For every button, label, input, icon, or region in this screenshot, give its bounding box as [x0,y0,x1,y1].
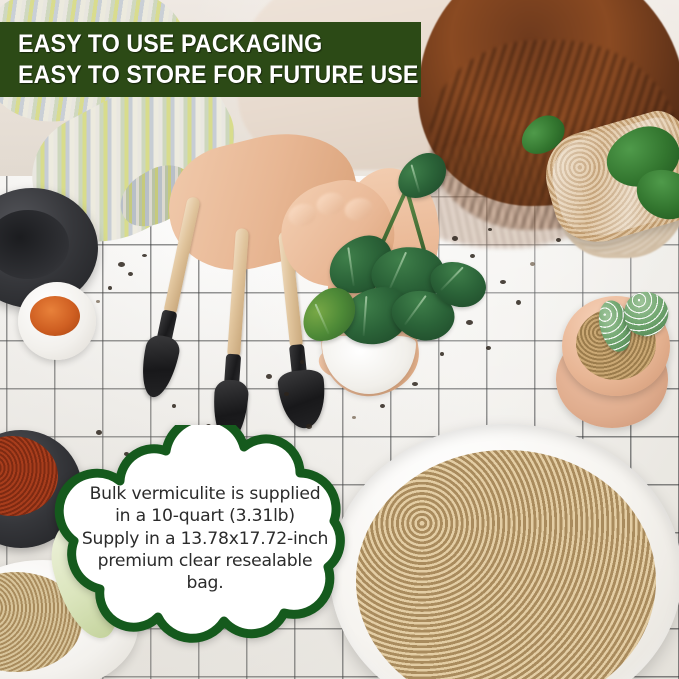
soil-crumb [172,404,176,408]
soil-crumb [352,416,356,419]
soil-crumb [452,236,458,241]
soil-crumb [440,352,444,356]
callout-line-1: Bulk vermiculite is supplied [72,483,338,505]
banner-line-2: EASY TO STORE FOR FUTURE USE [18,60,393,91]
soil-crumb [556,238,561,242]
soil-crumb [516,300,521,305]
feature-banner: EASY TO USE PACKAGING EASY TO STORE FOR … [0,22,421,97]
soil-crumb [284,392,289,396]
cloud-callout-text: Bulk vermiculite is supplied in a 10-qua… [72,483,338,595]
product-feature-image: EASY TO USE PACKAGING EASY TO STORE FOR … [0,0,679,679]
soil-crumb [380,404,385,408]
soil-crumb [142,254,147,257]
callout-line-2: in a 10-quart (3.31lb) [72,505,338,527]
soil-crumb [466,320,473,325]
soil-crumb [530,262,535,266]
soil-crumb [108,286,112,290]
soil-crumb [118,262,125,267]
cloud-callout: Bulk vermiculite is supplied in a 10-qua… [48,425,360,647]
callout-line-3: Supply in a 13.78x17.72-inch [72,528,338,550]
soil-crumb [412,382,418,386]
soil-crumb [96,300,100,303]
soil-crumb [486,346,491,350]
soil-crumb [128,272,133,276]
soil-crumb [266,374,272,379]
banner-line-1: EASY TO USE PACKAGING [18,29,393,60]
soil-crumb [500,280,506,284]
callout-line-4: premium clear resealable [72,550,338,572]
callout-line-5: bag. [72,572,338,594]
soil-crumb [470,254,475,258]
orange-powder [30,296,80,336]
soil-crumb [488,228,492,231]
soil-crumb [300,360,304,364]
